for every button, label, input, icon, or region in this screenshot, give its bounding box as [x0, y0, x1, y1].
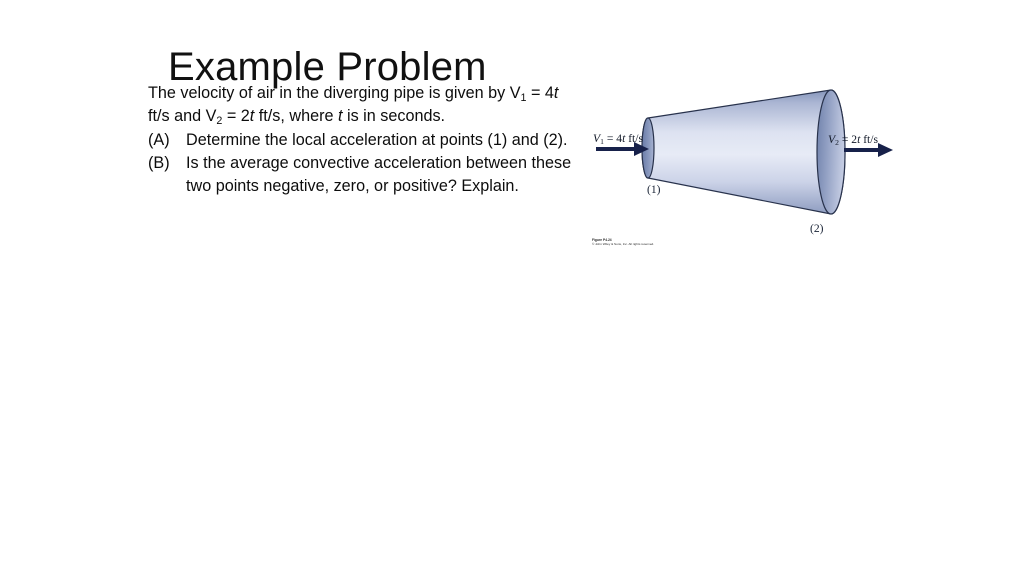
- intro-mid-4: ft/s, where: [254, 107, 338, 125]
- intro-mid: = 4: [526, 84, 553, 102]
- list-item: (A) Determine the local acceleration at …: [148, 129, 580, 152]
- outlet-velocity-label: V2 = 2t ft/s: [828, 133, 878, 146]
- pipe-outlet-face: [817, 90, 845, 214]
- inlet-velocity-label: V1 = 4t ft/s: [593, 132, 643, 145]
- point-1-label: (1): [647, 183, 661, 196]
- problem-intro: The velocity of air in the diverging pip…: [148, 82, 580, 129]
- outlet-equals: = 2: [839, 133, 857, 146]
- inlet-units: ft/s: [625, 132, 643, 145]
- diverging-pipe-figure: V1 = 4t ft/s V2 = 2t ft/s (1) (2) Figure…: [588, 78, 904, 258]
- problem-statement: The velocity of air in the diverging pip…: [148, 82, 580, 198]
- list-item-marker-a: (A): [148, 129, 186, 152]
- intro-variable-t1: t: [554, 84, 559, 102]
- list-item-text-b: Is the average convective acceleration b…: [186, 152, 580, 199]
- outlet-units: ft/s: [860, 133, 878, 146]
- intro-mid-2: ft/s and V: [148, 107, 216, 125]
- list-item-marker-b: (B): [148, 152, 186, 175]
- pipe-illustration: [588, 78, 904, 258]
- intro-mid-3: = 2: [222, 107, 249, 125]
- pipe-body: [642, 90, 845, 214]
- list-item: (B) Is the average convective accelerati…: [148, 152, 580, 199]
- point-2-label: (2): [810, 222, 824, 235]
- figure-caption-copyright: © John Wiley & Sons, Inc. All rights res…: [592, 242, 654, 246]
- inlet-equals: = 4: [604, 132, 622, 145]
- slide-canvas: Example Problem The velocity of air in t…: [0, 0, 1024, 576]
- intro-prefix: The velocity of air in the diverging pip…: [148, 84, 521, 102]
- intro-suffix: is in seconds.: [342, 107, 445, 125]
- figure-caption: Figure P4.24 © John Wiley & Sons, Inc. A…: [592, 238, 654, 247]
- list-item-text-a: Determine the local acceleration at poin…: [186, 129, 580, 152]
